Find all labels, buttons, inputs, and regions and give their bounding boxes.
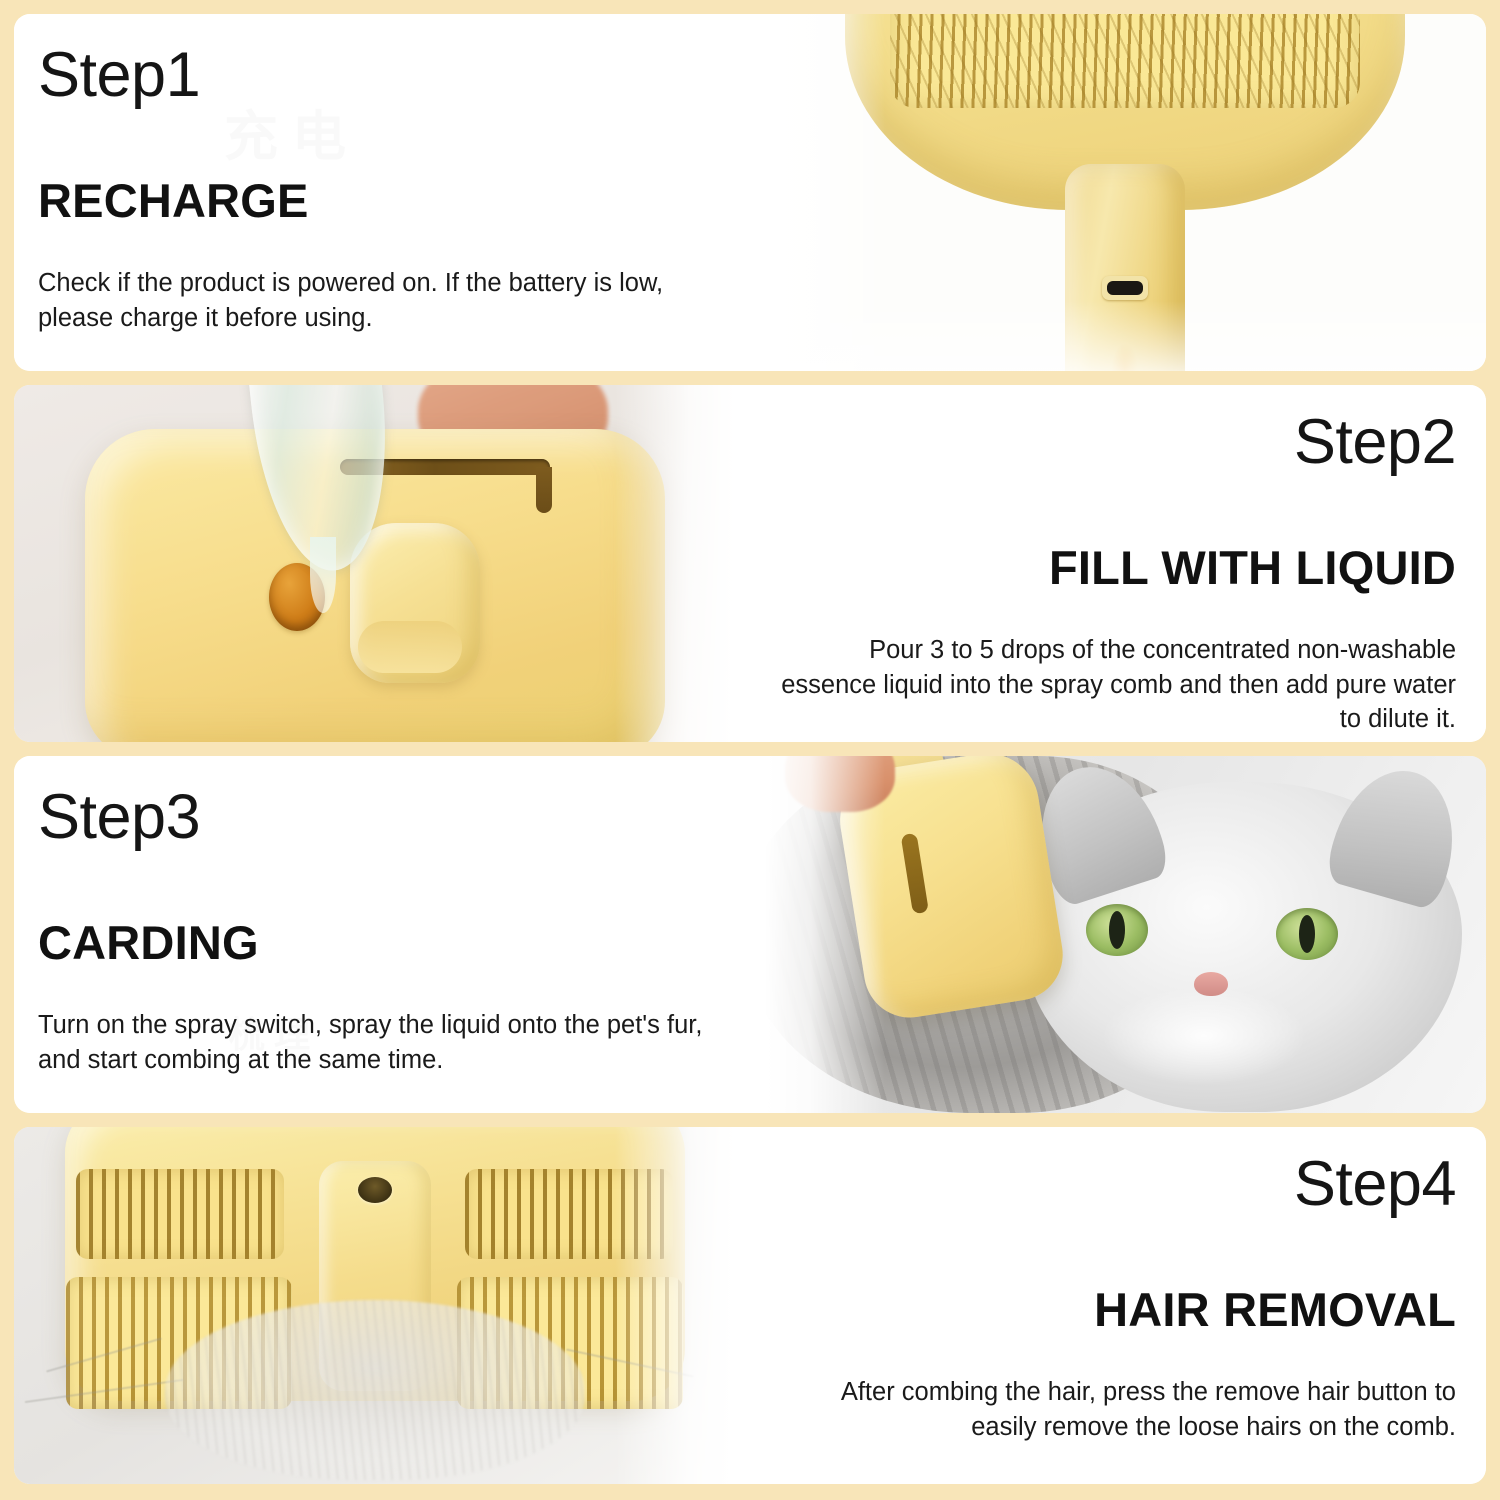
cat-eye-left-icon — [1086, 904, 1148, 956]
spray-nozzle-icon — [358, 1177, 392, 1203]
step-4-headline: HAIR REMOVAL — [1094, 1286, 1456, 1333]
step-2-body: Pour 3 to 5 drops of the concentrated no… — [777, 633, 1456, 737]
cat-nose-icon — [1194, 972, 1228, 996]
usb-c-port-icon — [1102, 276, 1148, 300]
cat-grooming-illustration — [765, 756, 1486, 1113]
brush-illustration — [765, 14, 1486, 371]
hair-removal-illustration — [14, 1127, 735, 1484]
step-3-text-pane: 梳理 Step3 CARDING Turn on the spray switc… — [14, 756, 765, 1113]
step-3-body: Turn on the spray switch, spray the liqu… — [38, 1008, 727, 1077]
step-4-body: After combing the hair, press the remove… — [777, 1375, 1456, 1444]
step-2-text-pane: Step2 FILL WITH LIQUID Pour 3 to 5 drops… — [735, 385, 1486, 742]
step-2-image — [14, 385, 735, 742]
step-4-image — [14, 1127, 735, 1484]
comb-teeth-icon — [890, 14, 1360, 108]
cat-muzzle-shape — [1104, 988, 1304, 1084]
step-1-text-pane: 充电 Step1 RECHARGE Check if the product i… — [14, 14, 765, 371]
comb-teeth-icon — [76, 1169, 284, 1259]
step-card-4: Step4 HAIR REMOVAL After combing the hai… — [14, 1127, 1486, 1484]
step-card-1: 充电 Step1 RECHARGE Check if the product i… — [14, 14, 1486, 371]
loose-hair-clump — [165, 1300, 585, 1480]
step-1-image — [765, 14, 1486, 371]
step-3-image — [765, 756, 1486, 1113]
step-4-text-pane: Step4 HAIR REMOVAL After combing the hai… — [735, 1127, 1486, 1484]
brush-handle-shape — [1065, 164, 1185, 371]
comb-teeth-icon — [465, 1169, 673, 1259]
step-1-headline: RECHARGE — [38, 177, 727, 224]
step-4-label: Step4 — [1294, 1153, 1456, 1216]
step-1-body: Check if the product is powered on. If t… — [38, 266, 727, 335]
dropper-illustration — [14, 385, 735, 742]
step-card-2: Step2 FILL WITH LIQUID Pour 3 to 5 drops… — [14, 385, 1486, 742]
reservoir-knob-shape — [350, 523, 480, 683]
step-2-label: Step2 — [1294, 411, 1456, 474]
cat-eye-right-icon — [1276, 908, 1338, 960]
dropper-tip-icon — [310, 537, 336, 613]
hand-shape — [785, 756, 895, 812]
step-1-label: Step1 — [38, 44, 727, 107]
step-3-label: Step3 — [38, 786, 727, 849]
step-2-headline: FILL WITH LIQUID — [1049, 544, 1456, 591]
step-card-3: 梳理 Step3 CARDING Turn on the spray switc… — [14, 756, 1486, 1113]
step-3-headline: CARDING — [38, 919, 727, 966]
